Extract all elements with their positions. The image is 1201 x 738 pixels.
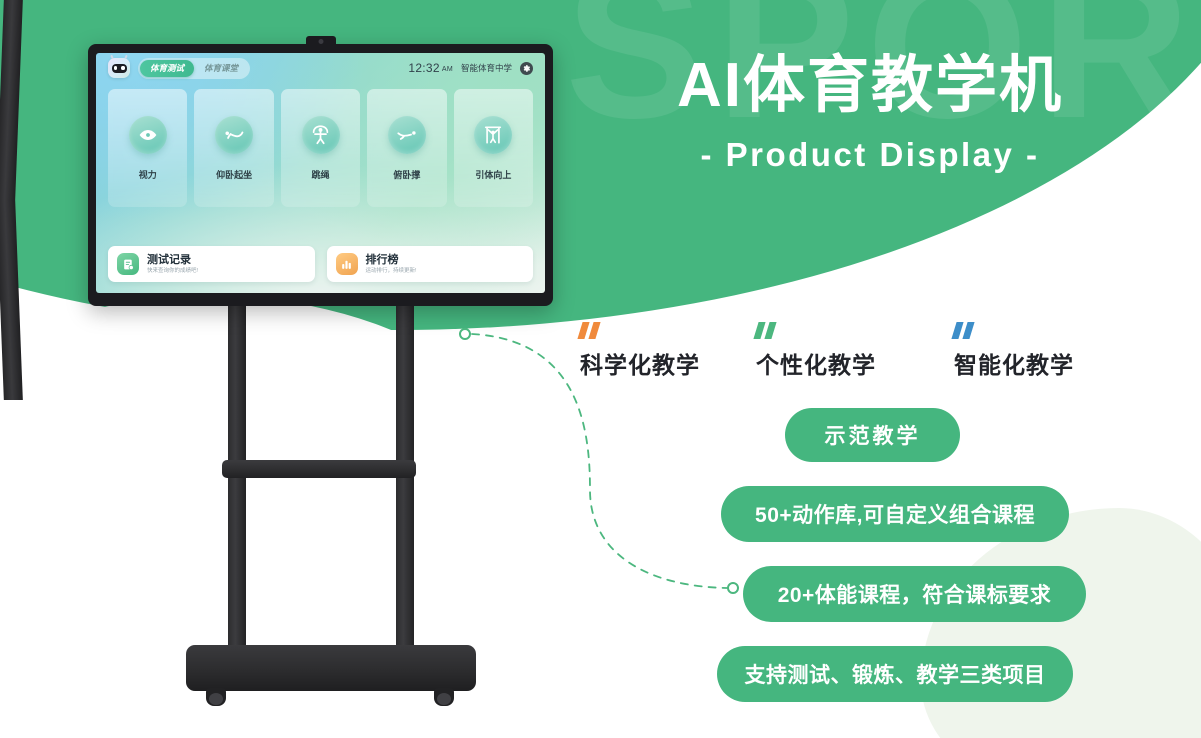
card-subtitle: 运动排行，持续更新!	[366, 268, 417, 274]
stand-base	[186, 645, 476, 691]
quote-mark-icon	[954, 322, 978, 339]
tile-label: 跳绳	[312, 168, 330, 181]
tab-sports-test[interactable]: 体育测试	[140, 60, 194, 77]
robot-icon	[108, 58, 130, 78]
hero-subtitle: - Product Display -	[600, 136, 1140, 174]
stand-caster-right	[434, 688, 454, 706]
gear-icon[interactable]	[520, 62, 533, 75]
screen-cards: 测试记录 快来查询你的成绩吧! 排行榜 运动排行，持续更新!	[108, 246, 533, 282]
pill-demo-teaching[interactable]: 示范教学	[785, 408, 960, 462]
feature-intelligent: 智能化教学	[912, 322, 1110, 380]
feature-title: 智能化教学	[954, 346, 1110, 380]
card-leaderboard[interactable]: 排行榜 运动排行，持续更新!	[327, 246, 534, 282]
tile-jump-rope[interactable]: 跳绳	[281, 89, 360, 207]
tile-label: 仰卧起坐	[216, 168, 252, 181]
school-name: 智能体育中学	[461, 62, 512, 74]
clock: 12:32AM	[408, 61, 453, 75]
camera-icon	[306, 36, 336, 45]
tile-label: 引体向上	[475, 168, 511, 181]
feature-scientific: 科学化教学	[580, 322, 736, 380]
card-test-record[interactable]: 测试记录 快来查询你的成绩吧!	[108, 246, 315, 282]
stand-leg-right	[0, 200, 23, 400]
tv-device: 体育测试 体育课堂 12:32AM 智能体育中学	[88, 44, 553, 306]
device-screen: 体育测试 体育课堂 12:32AM 智能体育中学	[96, 53, 545, 293]
stand-leg-left	[0, 0, 23, 200]
feature-title: 科学化教学	[580, 346, 736, 380]
tile-pushup[interactable]: 俯卧撑	[367, 89, 446, 207]
stand-caster-left	[206, 688, 226, 706]
quote-mark-icon	[580, 322, 604, 339]
pullup-icon	[474, 116, 512, 154]
tab-sports-class[interactable]: 体育课堂	[194, 60, 248, 77]
hero-title: AI体育教学机	[600, 52, 1140, 120]
quote-mark-icon	[756, 322, 780, 339]
screen-tiles: 视力 仰卧起坐	[108, 89, 533, 207]
hero-headline: AI体育教学机 - Product Display -	[600, 52, 1140, 174]
pill-action-library[interactable]: 50+动作库,可自定义组合课程	[721, 486, 1069, 542]
card-subtitle: 快来查询你的成绩吧!	[147, 268, 198, 274]
pill-three-categories[interactable]: 支持测试、锻炼、教学三类项目	[717, 646, 1073, 702]
pushup-icon	[388, 116, 426, 154]
stand-shelf	[222, 460, 416, 478]
screen-topbar: 体育测试 体育课堂 12:32AM 智能体育中学	[96, 53, 545, 83]
eye-icon	[129, 116, 167, 154]
situp-icon	[215, 116, 253, 154]
poster-stage: SPORTS AI体育教学机 - Product Display -	[0, 0, 1201, 738]
card-title: 排行榜	[366, 254, 417, 267]
feature-pill-list: 示范教学 50+动作库,可自定义组合课程 20+体能课程，符合课标要求 支持测试…	[580, 408, 1140, 702]
card-title: 测试记录	[147, 254, 198, 267]
pill-fitness-courses[interactable]: 20+体能课程，符合课标要求	[743, 566, 1086, 622]
feature-columns: 科学化教学 个性化教学 智能化教学	[580, 322, 1110, 380]
tile-label: 俯卧撑	[393, 168, 420, 181]
clock-time: 12:32	[408, 61, 440, 75]
bar-chart-icon	[336, 253, 358, 275]
tile-pullup[interactable]: 引体向上	[454, 89, 533, 207]
tile-label: 视力	[139, 168, 157, 181]
feature-personalized: 个性化教学	[736, 322, 912, 380]
screen-tabs: 体育测试 体育课堂	[138, 58, 250, 79]
record-icon	[117, 253, 139, 275]
screen-status-area: 12:32AM 智能体育中学	[408, 61, 533, 75]
tile-situp[interactable]: 仰卧起坐	[194, 89, 273, 207]
tile-vision[interactable]: 视力	[108, 89, 187, 207]
jump-rope-icon	[302, 116, 340, 154]
feature-title: 个性化教学	[756, 346, 912, 380]
clock-ampm: AM	[442, 66, 453, 73]
